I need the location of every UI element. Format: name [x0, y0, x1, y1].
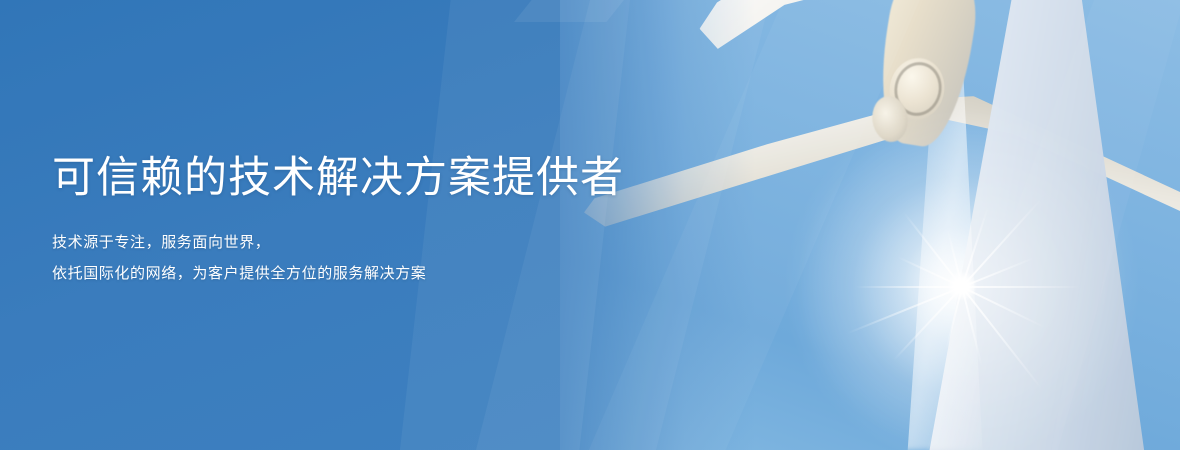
hero-banner: 可信赖的技术解决方案提供者 技术源于专注，服务面向世界， 依托国际化的网络，为客…	[0, 0, 1180, 450]
banner-text-block: 可信赖的技术解决方案提供者 技术源于专注，服务面向世界， 依托国际化的网络，为客…	[52, 0, 692, 450]
banner-subtitle-line-2: 依托国际化的网络，为客户提供全方位的服务解决方案	[52, 263, 426, 285]
banner-headline: 可信赖的技术解决方案提供者	[52, 152, 624, 204]
banner-subtitle-line-1: 技术源于专注，服务面向世界，	[52, 232, 270, 254]
